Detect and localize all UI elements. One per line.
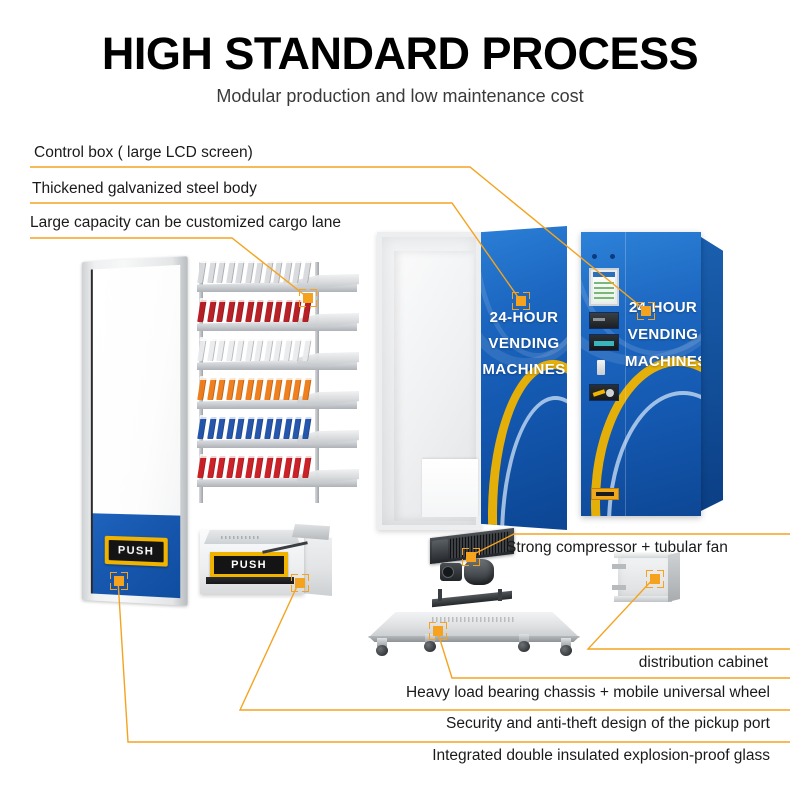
bill-acceptor[interactable]	[589, 334, 619, 351]
port-push-flap: PUSH	[210, 552, 288, 578]
machine-control-column	[585, 232, 623, 516]
rack-coil-group	[198, 337, 318, 362]
callout-label-chassis: Heavy load bearing chassis + mobile univ…	[406, 684, 770, 702]
door-lower-blue-panel: PUSH	[93, 513, 180, 598]
infographic-canvas: HIGH STANDARD PROCESS Modular production…	[0, 0, 800, 800]
port-push-label: PUSH	[214, 556, 284, 574]
callout-label-steel-body: Thickened galvanized steel body	[32, 180, 257, 198]
speaker-hole-right-icon	[610, 254, 615, 259]
marker-compressor[interactable]	[462, 548, 480, 566]
speaker-hole-left-icon	[592, 254, 597, 259]
rack-tier	[197, 336, 357, 370]
pickup-port-slot	[596, 492, 614, 496]
caster-wheel	[560, 645, 572, 656]
marker-chassis[interactable]	[429, 622, 447, 640]
marker-steel-body[interactable]	[512, 292, 530, 310]
door-glass-panel: PUSH	[91, 265, 180, 598]
dist-cabinet-bottom-lip	[614, 596, 672, 602]
rack-coil-group	[198, 454, 318, 479]
machine-front-face: 24-HOUR VENDING MACHINES	[581, 232, 701, 516]
pickup-port-module: PUSH	[200, 520, 332, 598]
coin-icon	[606, 389, 614, 397]
marker-distribution[interactable]	[646, 570, 664, 588]
page-subtitle: Modular production and low maintenance c…	[0, 86, 800, 107]
lcd-touchscreen[interactable]	[589, 268, 619, 306]
shell-body	[377, 232, 481, 530]
caster-wheel	[518, 641, 530, 652]
coin-slot[interactable]	[597, 360, 605, 375]
cargo-lane-rack	[197, 258, 357, 503]
shell-lower-drawer	[422, 459, 478, 517]
caster-wheel-front-right	[560, 638, 572, 656]
marker-glass[interactable]	[110, 572, 128, 590]
marker-pickup-port[interactable]	[291, 574, 309, 592]
page-title: HIGH STANDARD PROCESS	[0, 28, 800, 80]
lcd-header-bar	[593, 272, 615, 277]
rack-tier	[197, 258, 357, 292]
callout-label-cargo-lane: Large capacity can be customized cargo l…	[30, 214, 341, 232]
rack-coil-group	[198, 376, 318, 401]
door-push-label: PUSH	[109, 540, 164, 562]
rack-tier	[197, 375, 357, 409]
port-top-cover	[204, 530, 300, 544]
callout-label-control-box: Control box ( large LCD screen)	[34, 144, 253, 162]
marker-cargo-lane[interactable]	[299, 289, 317, 307]
caster-wheel	[424, 641, 436, 652]
pickup-port-opening[interactable]	[591, 488, 619, 500]
chassis-top-plate	[368, 612, 580, 638]
machine-text-line-3: MACHINES	[625, 348, 701, 375]
lcd-row-2	[594, 287, 614, 289]
key-icon	[593, 389, 606, 397]
machine-side-face	[701, 237, 723, 511]
rack-tier	[197, 414, 357, 448]
caster-wheel-rear-right	[518, 634, 530, 652]
key-lock-panel[interactable]	[589, 384, 619, 401]
lcd-screen-surface	[593, 272, 615, 302]
card-reader[interactable]	[589, 312, 619, 329]
callout-label-pickup-port: Security and anti-theft design of the pi…	[446, 715, 770, 733]
dist-cabinet-tab-lower	[612, 585, 626, 590]
callout-label-distribution: distribution cabinet	[639, 654, 768, 672]
machine-text-line-2: VENDING	[625, 321, 701, 348]
rack-tier	[197, 297, 357, 331]
callout-label-compressor: Strong compressor + tubular fan	[506, 539, 728, 557]
lcd-row-3	[594, 292, 614, 294]
port-body: PUSH	[200, 530, 304, 594]
condenser-fins	[450, 531, 510, 558]
lcd-row-1	[594, 282, 614, 284]
door-frame: PUSH	[82, 256, 188, 606]
tubular-fan-icon	[432, 539, 448, 561]
complete-vending-machine: 24-HOUR VENDING MACHINES	[581, 232, 723, 516]
shell-side-text: 24-HOUR VENDING MACHINES	[481, 305, 567, 383]
callout-label-glass: Integrated double insulated explosion-pr…	[432, 747, 770, 765]
rack-tier	[197, 453, 357, 487]
dist-cabinet-side-panel	[668, 552, 680, 602]
shell-side-text-line-2: VENDING	[481, 331, 567, 357]
caster-wheel-front-left	[376, 638, 388, 656]
glass-door-assembly: PUSH	[82, 262, 186, 600]
load-bearing-chassis	[368, 612, 580, 658]
compressor-leg-right	[498, 589, 502, 601]
port-lower-slot	[206, 577, 294, 584]
dist-cabinet-tab-upper	[612, 564, 626, 569]
chassis-front-edge	[368, 636, 580, 642]
lcd-row-4	[594, 297, 614, 299]
rack-coil-group	[198, 415, 318, 440]
compressor-leg-left	[438, 589, 442, 601]
shell-side-text-line-3: MACHINES	[481, 357, 567, 383]
compressor-motor	[440, 563, 462, 581]
caster-wheel	[376, 645, 388, 656]
shell-side-graphic-panel: 24-HOUR VENDING MACHINES	[481, 226, 567, 530]
marker-control-box[interactable]	[637, 302, 655, 320]
cabinet-shell: 24-HOUR VENDING MACHINES	[377, 232, 567, 530]
door-push-flap: PUSH	[105, 536, 168, 567]
rack-coil-group	[198, 259, 318, 284]
